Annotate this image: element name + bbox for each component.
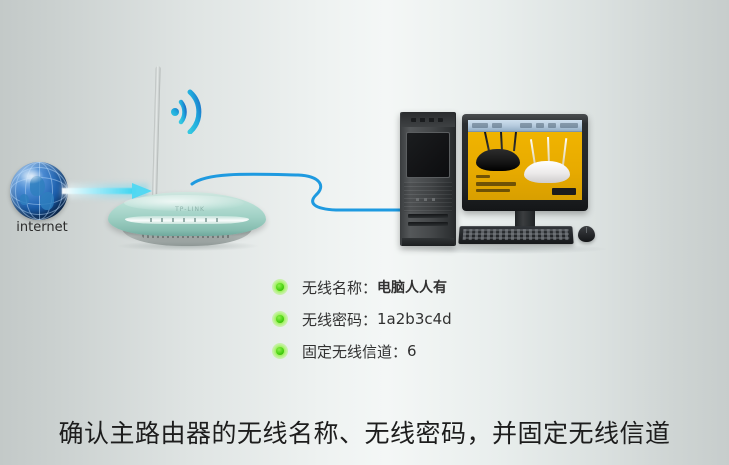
channel-label: 固定无线信道： xyxy=(302,341,407,362)
monitor-screen xyxy=(468,120,582,200)
channel-value: 6 xyxy=(407,342,417,360)
internet-label: internet xyxy=(6,220,78,235)
caption-text: 确认主路由器的无线名称、无线密码，并固定无线信道 xyxy=(0,414,729,450)
ssid-label: 无线名称： xyxy=(302,277,377,298)
desk-shadow xyxy=(396,244,606,254)
internet-node: internet xyxy=(6,162,78,242)
green-dot-bullet xyxy=(272,311,288,327)
list-item: 固定无线信道： 6 xyxy=(272,335,602,367)
ssid-value: 电脑人人有 xyxy=(377,277,447,297)
list-item: 无线密码： 1a2b3c4d xyxy=(272,303,602,335)
list-item: 无线名称： 电脑人人有 xyxy=(272,271,602,303)
white-router-product xyxy=(524,161,570,183)
globe-icon xyxy=(10,162,68,220)
password-label: 无线密码： xyxy=(302,309,377,330)
browser-toolbar xyxy=(468,120,582,132)
password-value: 1a2b3c4d xyxy=(377,310,452,328)
wifi-signal-icon xyxy=(168,82,214,134)
mouse-icon xyxy=(578,226,595,242)
green-dot-bullet xyxy=(272,279,288,295)
pc-tower-icon xyxy=(400,112,456,246)
green-dot-bullet xyxy=(272,343,288,359)
keyboard-icon xyxy=(458,226,573,244)
wireless-settings-list: 无线名称： 电脑人人有 无线密码： 1a2b3c4d 固定无线信道： 6 xyxy=(272,271,602,367)
lan-cable xyxy=(190,168,420,230)
diagram-scene: internet TP-LINK xyxy=(0,0,729,465)
black-router-product xyxy=(476,149,520,171)
antenna-icon xyxy=(152,66,161,198)
